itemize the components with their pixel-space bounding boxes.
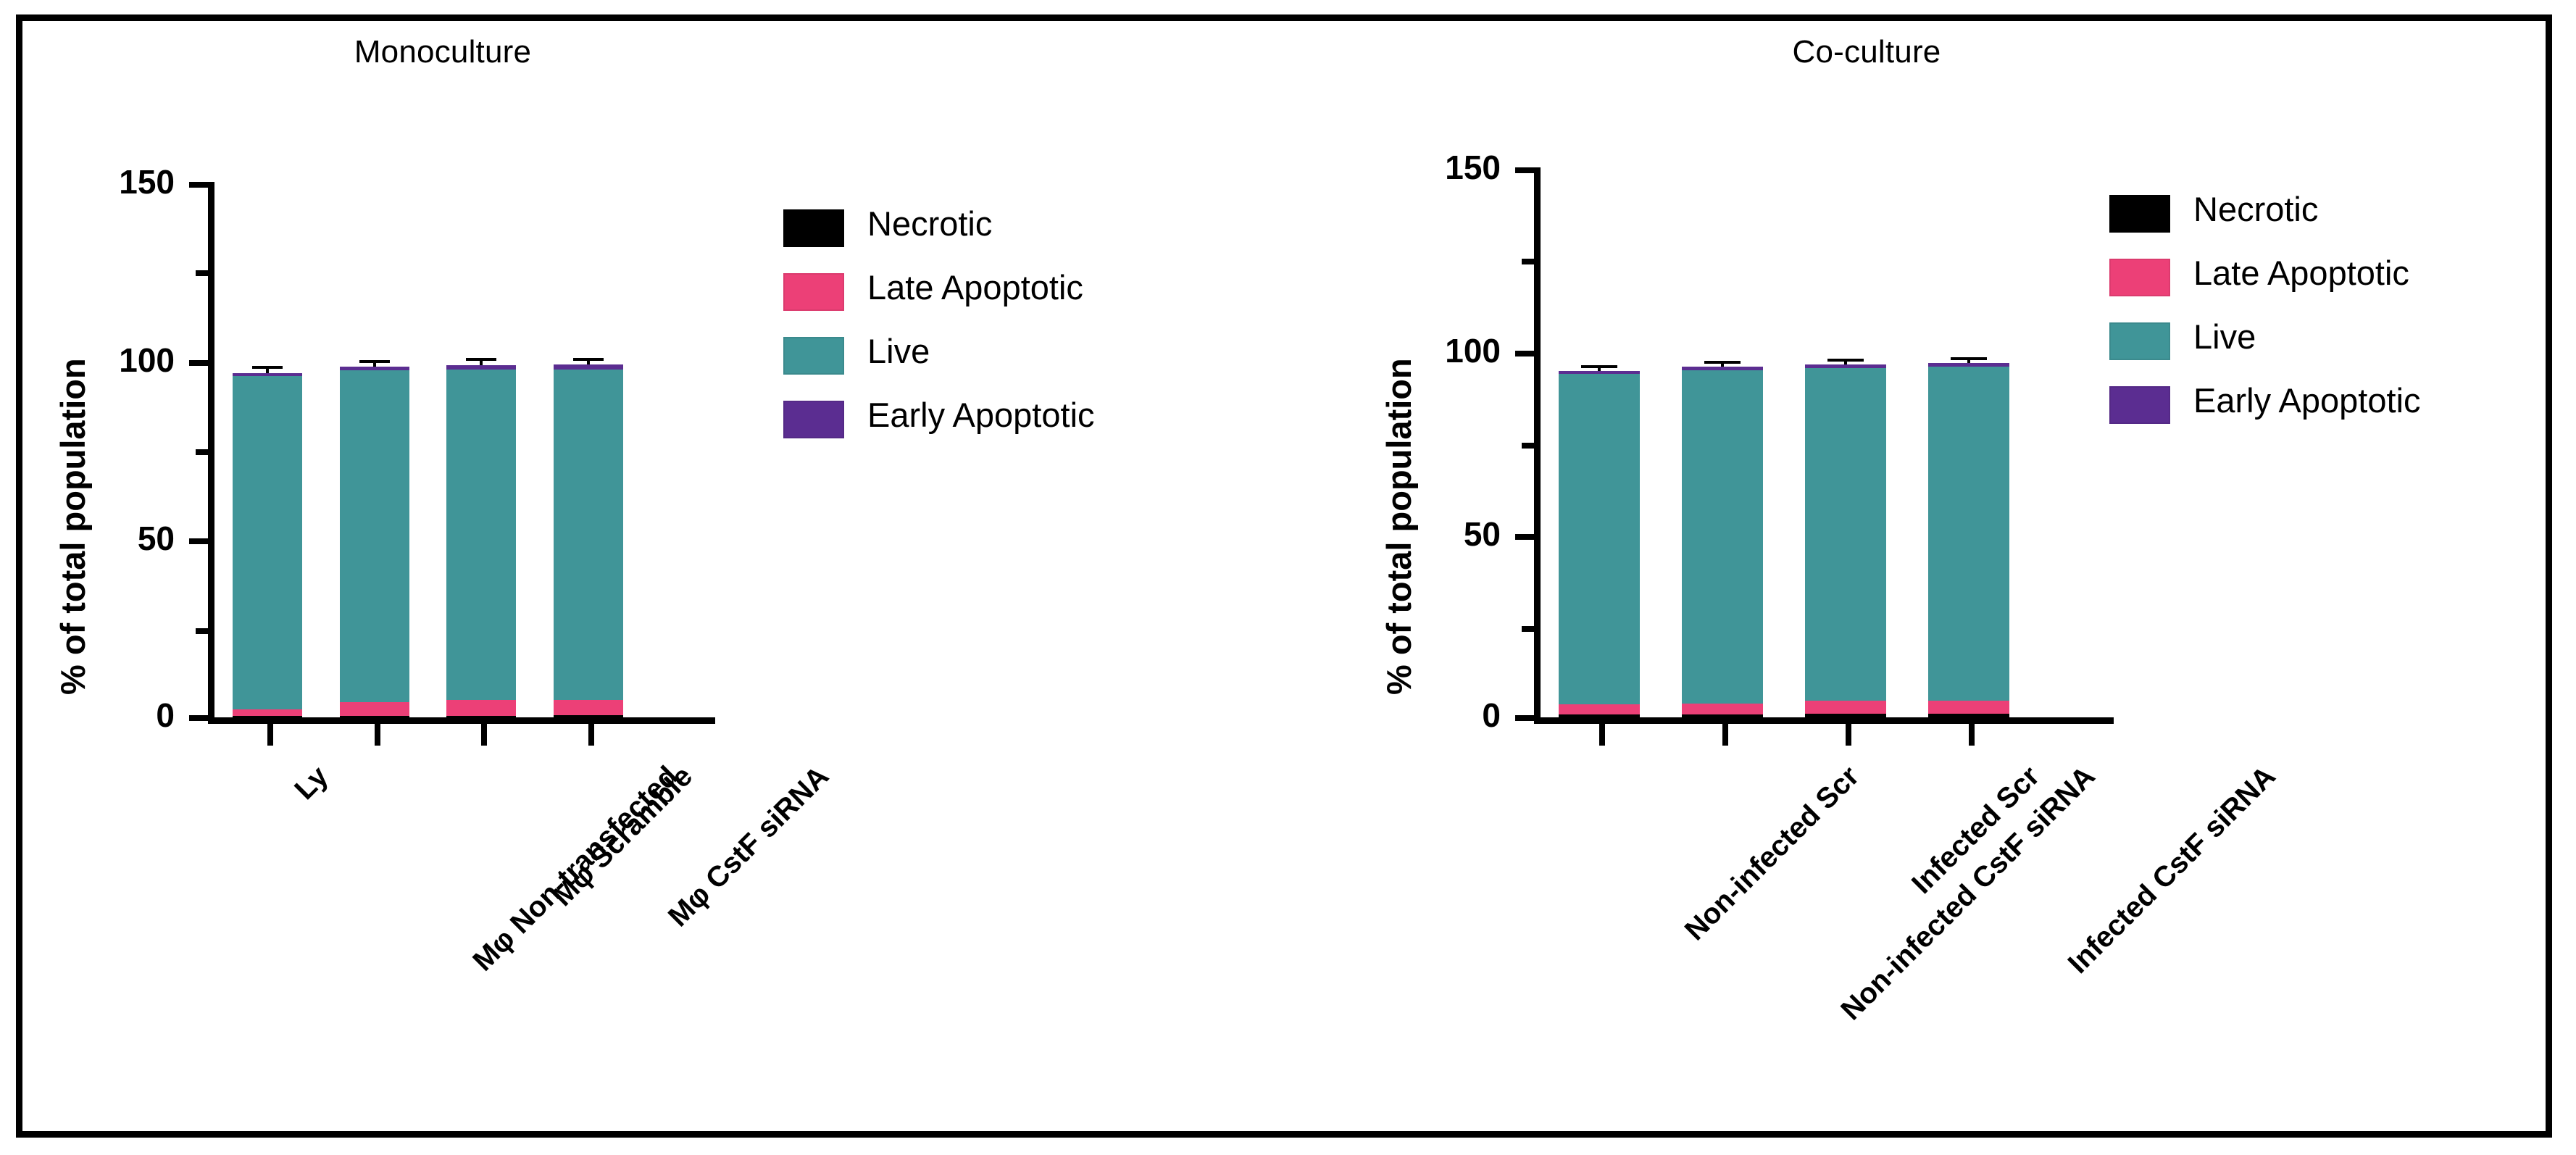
bar-segment-live — [233, 376, 302, 709]
bar-segment-early-apoptotic — [446, 365, 516, 370]
error-bar-cap — [359, 360, 390, 363]
bar-segment-late-apoptotic — [554, 700, 623, 715]
bar-segment-necrotic — [1928, 714, 2009, 717]
x-tick-mark — [375, 724, 380, 746]
legend-label-late_apoptotic: Late Apoptotic — [867, 267, 1083, 307]
y-tick-50-coculture — [1515, 534, 1534, 540]
legend-swatch-necrotic — [783, 209, 844, 247]
stacked-bar — [1559, 21, 1640, 717]
error-bar-stem — [587, 361, 590, 365]
error-bar-cap — [1951, 357, 1986, 360]
error-bar-stem — [373, 363, 376, 367]
error-bar-cap — [573, 358, 604, 361]
bar-segment-late-apoptotic — [1682, 704, 1763, 714]
y-tick-150-coculture — [1515, 167, 1534, 173]
y-tick-0-monoculture — [189, 715, 208, 721]
panel-monoculture: Monoculture 150 100 50 0 % of total popu… — [22, 21, 1298, 1131]
legend-label-necrotic: Necrotic — [867, 204, 992, 243]
x-tick-mark — [1846, 724, 1851, 746]
plot-area-coculture: 150 100 50 0 % of total population Non-i… — [1298, 21, 2551, 1131]
y-axis-line-coculture — [1534, 167, 1541, 724]
bar-segment-live — [1682, 370, 1763, 704]
y-tick-50-monoculture — [189, 538, 208, 544]
stacked-bar — [233, 21, 302, 717]
legend-swatch-early_apoptotic — [2109, 386, 2170, 424]
stacked-bar — [1805, 21, 1886, 717]
stacked-bar — [1682, 21, 1763, 717]
bar-segment-necrotic — [554, 715, 623, 717]
legend-label-live: Live — [2193, 317, 2256, 356]
x-tick-mark — [1969, 724, 1975, 746]
bar-segment-necrotic — [1805, 714, 1886, 717]
error-bar-cap — [466, 358, 496, 361]
error-bar-stem — [480, 361, 483, 365]
error-bar-stem — [1598, 368, 1601, 371]
legend-label-early_apoptotic: Early Apoptotic — [867, 395, 1095, 435]
x-tick-mark — [588, 724, 594, 746]
bar-segment-early-apoptotic — [1559, 371, 1640, 375]
legend-swatch-live — [783, 337, 844, 375]
y-tick-25-coculture — [1522, 626, 1534, 632]
error-bar-cap — [1704, 361, 1740, 364]
y-tick-100-monoculture — [189, 360, 208, 366]
legend-swatch-early_apoptotic — [783, 401, 844, 438]
x-axis-line-monoculture — [208, 717, 715, 724]
error-bar-cap — [252, 366, 283, 369]
bar-segment-late-apoptotic — [1805, 701, 1886, 714]
error-bar-cap — [1827, 359, 1863, 362]
x-tick-mark — [481, 724, 487, 746]
stacked-bar — [340, 21, 409, 717]
error-bar-cap — [1581, 365, 1617, 368]
legend-label-early_apoptotic: Early Apoptotic — [2193, 380, 2421, 420]
y-axis-line-monoculture — [208, 182, 214, 724]
x-axis-line-coculture — [1534, 717, 2114, 724]
bar-segment-late-apoptotic — [1928, 701, 2009, 714]
y-tick-75-monoculture — [196, 449, 208, 455]
figure-frame: Monoculture 150 100 50 0 % of total popu… — [16, 14, 2552, 1138]
bar-segment-necrotic — [1559, 714, 1640, 717]
x-tick-label: Ly — [288, 760, 335, 806]
bar-segment-late-apoptotic — [340, 702, 409, 715]
y-tick-125-monoculture — [196, 270, 208, 276]
bar-segment-necrotic — [340, 716, 409, 717]
x-tick-label: Non-infected CstF siRNA — [1835, 760, 2101, 1027]
bar-segment-live — [1928, 367, 2009, 701]
y-axis-label-monoculture: % of total population — [53, 358, 93, 695]
error-bar-stem — [1721, 364, 1724, 367]
bar-segment-late-apoptotic — [233, 709, 302, 716]
y-tick-75-coculture — [1522, 443, 1534, 449]
y-tick-label-150-monoculture: 150 — [66, 162, 175, 201]
panel-coculture: Co-culture 150 100 50 0 % of total popul… — [1298, 21, 2551, 1131]
bar-segment-live — [340, 370, 409, 702]
error-bar-stem — [1844, 362, 1847, 364]
bar-segment-late-apoptotic — [446, 700, 516, 716]
y-tick-100-coculture — [1515, 351, 1534, 356]
error-bar-stem — [266, 369, 269, 373]
legend-swatch-late_apoptotic — [783, 273, 844, 311]
x-tick-label: Non-infected Scr — [1679, 760, 1866, 947]
plot-area-monoculture: 150 100 50 0 % of total population LyMφ … — [22, 21, 1298, 1131]
legend-label-live: Live — [867, 331, 930, 371]
x-tick-mark — [1599, 724, 1605, 746]
y-tick-150-monoculture — [189, 182, 208, 188]
bar-segment-live — [554, 370, 623, 701]
legend-swatch-late_apoptotic — [2109, 259, 2170, 296]
bar-segment-early-apoptotic — [340, 367, 409, 370]
error-bar-stem — [1967, 360, 1970, 363]
y-tick-0-coculture — [1515, 715, 1534, 721]
bar-segment-necrotic — [446, 716, 516, 717]
legend-label-late_apoptotic: Late Apoptotic — [2193, 253, 2409, 293]
y-tick-125-coculture — [1522, 259, 1534, 264]
legend-label-necrotic: Necrotic — [2193, 189, 2318, 229]
x-tick-mark — [267, 724, 273, 746]
bar-segment-necrotic — [1682, 714, 1763, 717]
y-axis-label-coculture: % of total population — [1379, 358, 1419, 695]
y-tick-label-0-coculture: 0 — [1392, 696, 1501, 735]
bar-segment-early-apoptotic — [1928, 363, 2009, 367]
bar-segment-early-apoptotic — [1805, 364, 1886, 368]
bar-segment-early-apoptotic — [1682, 367, 1763, 370]
bar-segment-live — [1559, 374, 1640, 704]
x-tick-label: Mφ Scramble — [546, 760, 699, 913]
bar-segment-necrotic — [233, 716, 302, 717]
bar-segment-early-apoptotic — [233, 373, 302, 376]
y-tick-label-0-monoculture: 0 — [66, 696, 175, 735]
x-tick-label: Infected CstF siRNA — [2062, 760, 2283, 980]
legend-swatch-live — [2109, 322, 2170, 360]
bar-segment-live — [1805, 368, 1886, 701]
x-tick-mark — [1722, 724, 1728, 746]
stacked-bar — [1928, 21, 2009, 717]
y-tick-label-150-coculture: 150 — [1392, 148, 1501, 187]
bar-segment-early-apoptotic — [554, 364, 623, 369]
legend-swatch-necrotic — [2109, 195, 2170, 233]
stacked-bar — [446, 21, 516, 717]
y-tick-25-monoculture — [196, 628, 208, 634]
bar-segment-live — [446, 370, 516, 700]
bar-segment-late-apoptotic — [1559, 704, 1640, 714]
stacked-bar — [554, 21, 623, 717]
